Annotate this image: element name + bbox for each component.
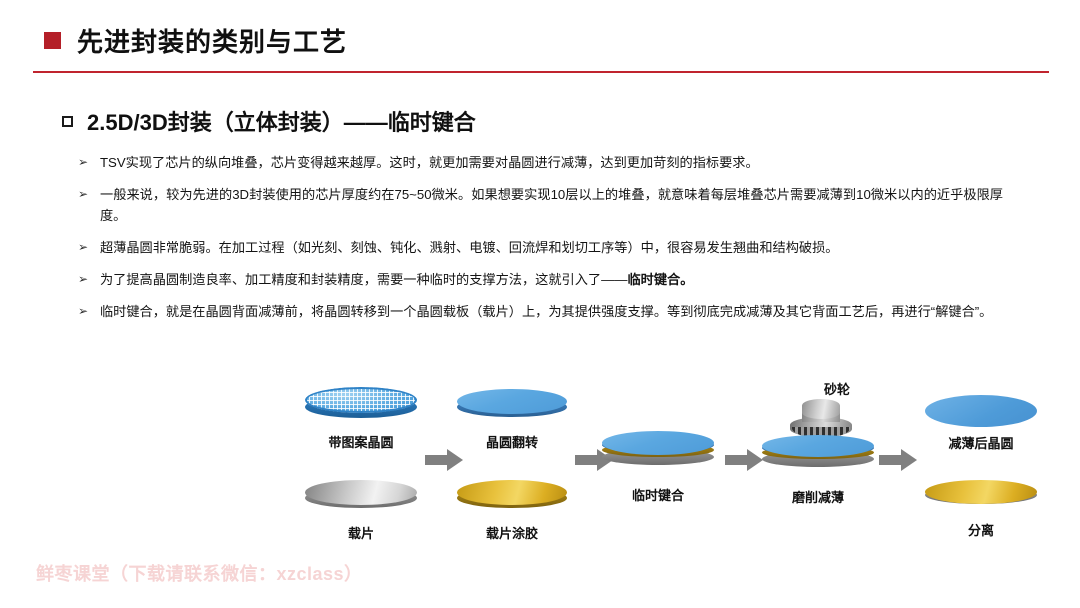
flipped-wafer-disk [457,389,567,421]
label-carrier-coated: 载片涂胶 [457,523,567,542]
arrow-bullet-icon: ➢ [78,184,100,205]
flow-arrow-4-icon [879,449,917,471]
arrow-bullet-icon: ➢ [78,301,100,322]
stage-thinned-wafer [925,395,1037,427]
list-item: ➢ 超薄晶圆非常脆弱。在加工过程（如光刻、刻蚀、钝化、溅射、电镀、回流焊和划切工… [78,237,1003,258]
patterned-wafer-disk [305,387,417,421]
section-subtitle: 2.5D/3D封装（立体封装）——临时键合 [62,105,476,137]
list-item: ➢ 为了提高晶圆制造良率、加工精度和封装精度，需要一种临时的支撑方法，这就引入了… [78,269,1003,290]
arrow-bullet-icon: ➢ [78,152,100,173]
list-item-text: 为了提高晶圆制造良率、加工精度和封装精度，需要一种临时的支撑方法，这就引入了——… [100,269,1003,290]
list-item: ➢ TSV实现了芯片的纵向堆叠，芯片变得越来越厚。这时，就更加需要对晶圆进行减薄… [78,152,1003,173]
subtitle-label: 2.5D/3D封装（立体封装）——临时键合 [87,105,476,137]
grinding-stack-disk [762,435,874,471]
list-item: ➢ 一般来说，较为先进的3D封装使用的芯片厚度约在75~50微米。如果想要实现1… [78,184,1003,226]
bonded-stack-disk [602,431,714,469]
title-bullet-square [44,32,61,49]
process-flow-diagram: 带图案晶圆 载片 晶圆翻转 载片涂胶 [0,375,1080,540]
slide-header: 先进封装的类别与工艺 [44,22,347,59]
body-bullet-list: ➢ TSV实现了芯片的纵向堆叠，芯片变得越来越厚。这时，就更加需要对晶圆进行减薄… [78,152,1003,333]
separated-carrier-disk [925,480,1037,510]
label-carrier: 载片 [305,523,417,542]
title-divider-rule [33,71,1049,73]
subtitle-bullet-square-icon [62,116,73,127]
label-thinned-wafer: 减薄后晶圆 [925,433,1037,452]
list-item-text: 临时键合，就是在晶圆背面减薄前，将晶圆转移到一个晶圆载板（载片）上，为其提供强度… [100,301,1003,322]
coated-carrier-disk [457,480,567,512]
arrow-bullet-icon: ➢ [78,269,100,290]
arrow-bullet-icon: ➢ [78,237,100,258]
list-item: ➢ 临时键合，就是在晶圆背面减薄前，将晶圆转移到一个晶圆载板（载片）上，为其提供… [78,301,1003,322]
label-grinding-thinning: 磨削减薄 [762,487,874,506]
label-flipped-wafer: 晶圆翻转 [457,432,567,451]
label-separation: 分离 [925,520,1037,539]
label-grinding-wheel: 砂轮 [806,379,868,398]
thinned-wafer-disk [925,395,1037,427]
watermark-text: 鲜枣课堂（下载请联系微信：xzclass） [36,560,363,586]
carrier-disk [305,480,417,512]
flow-arrow-3-icon [725,449,763,471]
label-temporary-bonding: 临时键合 [602,485,714,504]
list-item-text: TSV实现了芯片的纵向堆叠，芯片变得越来越厚。这时，就更加需要对晶圆进行减薄，达… [100,152,1003,173]
list-item-text: 一般来说，较为先进的3D封装使用的芯片厚度约在75~50微米。如果想要实现10层… [100,184,1003,226]
list-item-text: 超薄晶圆非常脆弱。在加工过程（如光刻、刻蚀、钝化、溅射、电镀、回流焊和划切工序等… [100,237,1003,258]
flow-arrow-1-icon [425,449,463,471]
label-patterned-wafer: 带图案晶圆 [305,432,417,451]
page-title: 先进封装的类别与工艺 [77,22,347,59]
